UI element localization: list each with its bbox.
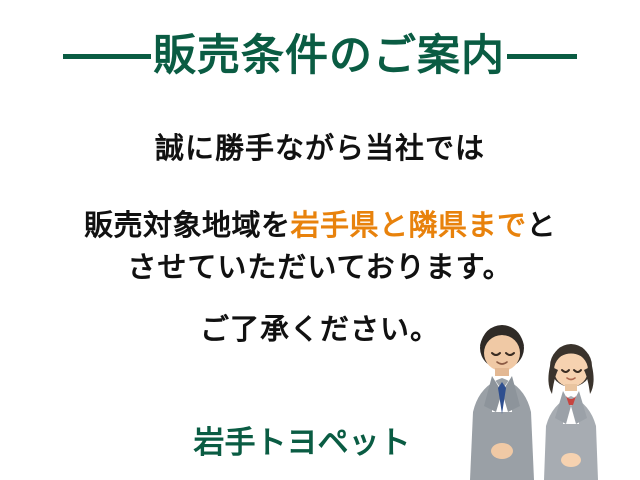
notice-line-2-prefix: 販売対象地域を <box>84 208 291 242</box>
notice-line-2-highlight: 岩手県と隣県まで <box>290 208 526 242</box>
notice-line-2-suffix: と <box>527 208 557 242</box>
company-logo: 岩手トヨペット <box>172 417 432 462</box>
staff-male <box>470 325 534 480</box>
title-rule-right <box>507 54 577 59</box>
staff-female <box>544 344 598 480</box>
notice-body: 誠に勝手ながら当社では 販売対象地域を岩手県と隣県までと させていただいておりま… <box>0 133 640 346</box>
title-rule-left <box>63 54 151 59</box>
notice-line-1: 誠に勝手ながら当社では <box>0 133 640 165</box>
notice-page: 販売条件のご案内 誠に勝手ながら当社では 販売対象地域を岩手県と隣県までと させ… <box>0 0 640 480</box>
staff-illustration <box>440 320 630 480</box>
title-row: 販売条件のご案内 <box>0 34 640 79</box>
notice-line-2: 販売対象地域を岩手県と隣県までと <box>0 210 640 242</box>
page-title: 販売条件のご案内 <box>153 34 505 79</box>
notice-line-3: させていただいております。 <box>0 252 640 284</box>
